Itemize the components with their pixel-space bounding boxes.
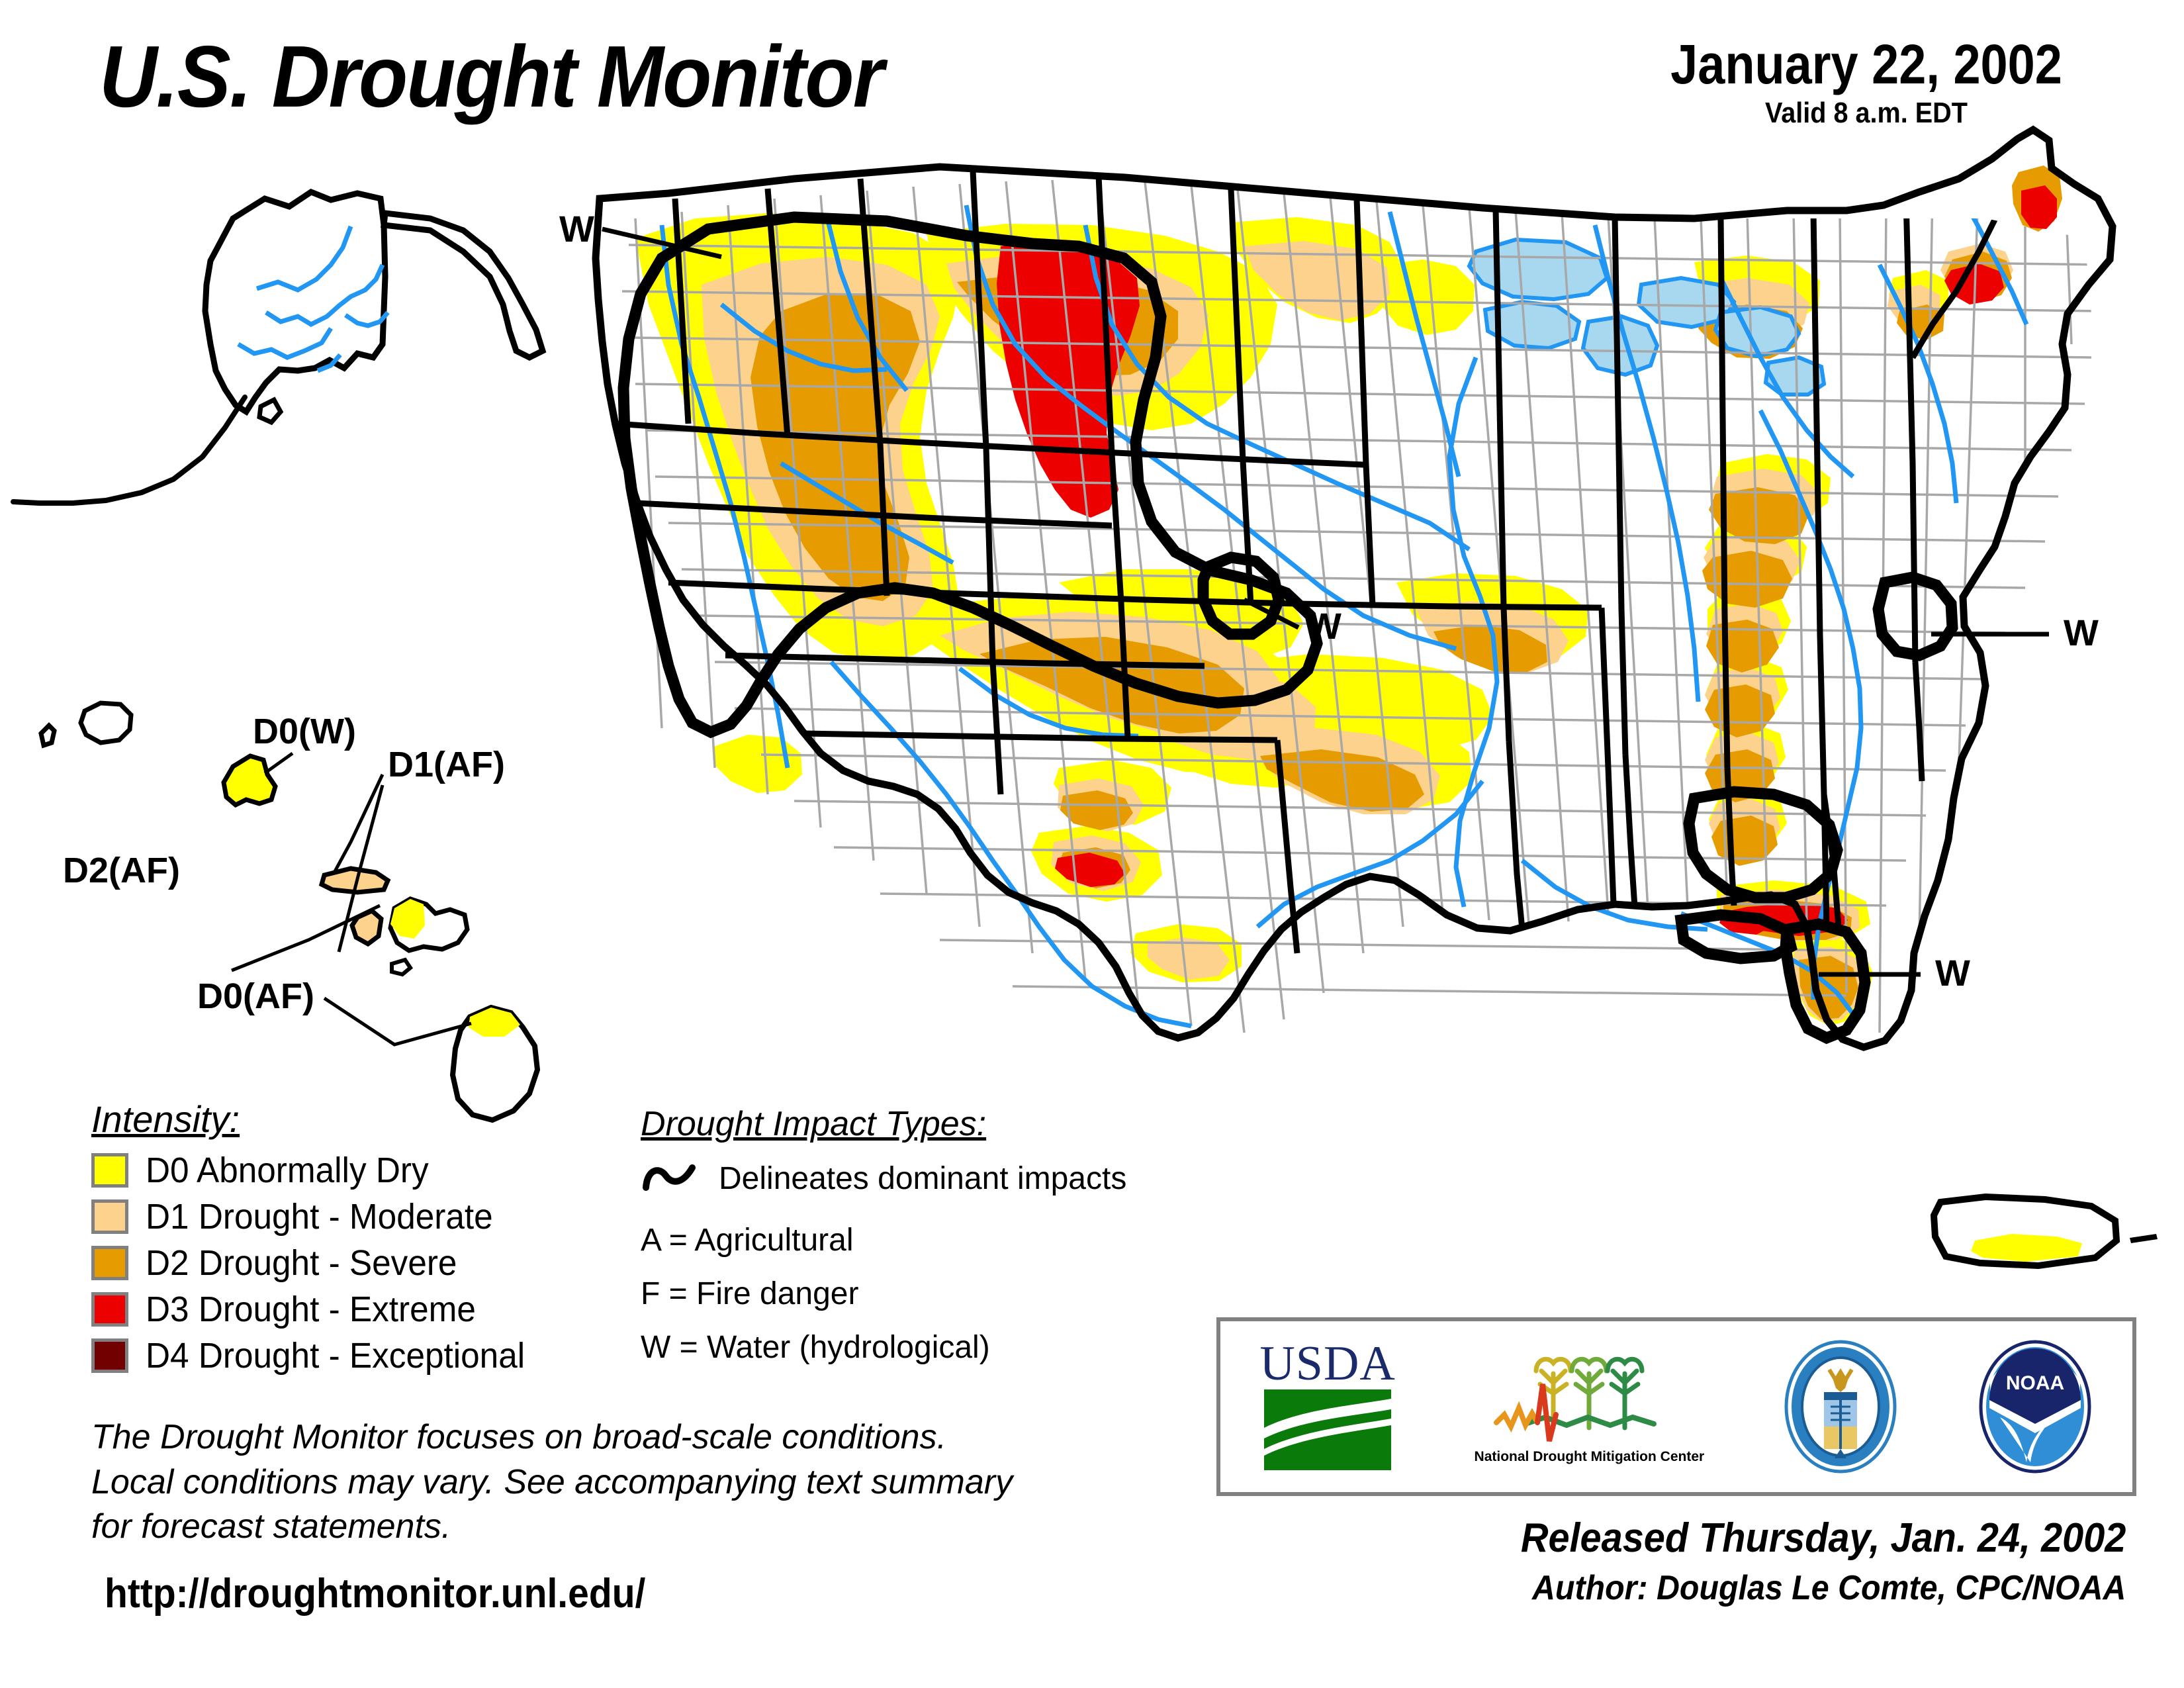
squiggle-icon: [641, 1157, 702, 1199]
release-date: Released Thursday, Jan. 24, 2002: [1520, 1515, 2126, 1562]
department-of-commerce-seal-icon: [1783, 1339, 1899, 1475]
hawaii-label-d1af: D1(AF): [388, 747, 505, 782]
hawaii-oahu: [224, 756, 275, 805]
legend-swatch-d0: [91, 1153, 128, 1188]
noaa-wordmark: NOAA: [2005, 1372, 2064, 1394]
doc-seal-logo: [1783, 1339, 1899, 1475]
legend-label-d4: D4 Drought - Exceptional: [146, 1335, 525, 1376]
legend-row-d4: D4 Drought - Exceptional: [91, 1334, 545, 1378]
drought-impact-types: Drought Impact Types: Delineates dominan…: [641, 1104, 1126, 1383]
disclaimer-line-2: Local conditions may vary. See accompany…: [91, 1460, 1013, 1505]
w-label-pacific-northwest: W: [559, 211, 594, 248]
puerto-rico-inset: [1934, 1197, 2158, 1266]
alaska-panhandle: [384, 213, 543, 357]
release-author: Author: Douglas Le Comte, CPC/NOAA: [1520, 1568, 2126, 1608]
legend-row-d3: D3 Drought - Extreme: [91, 1288, 545, 1331]
website-url[interactable]: http://droughtmonitor.unl.edu/: [105, 1570, 645, 1617]
w-label-florida: W: [1935, 955, 1970, 992]
hawaii-label-d0af: D0(AF): [197, 978, 314, 1014]
ndmc-logo: National Drought Mitigation Center: [1475, 1348, 1705, 1465]
legend-row-d1: D1 Drought - Moderate: [91, 1195, 545, 1239]
conus: [596, 130, 2113, 1047]
usda-logo: USDA: [1259, 1340, 1395, 1473]
ndmc-trees-icon: [1490, 1348, 1688, 1448]
alaska-inset: [13, 192, 543, 503]
legend-row-d0: D0 Abnormally Dry: [91, 1149, 545, 1192]
alaska-outline: [205, 192, 385, 412]
hawaii-niihau: [41, 726, 54, 745]
impact-key-agricultural: A = Agricultural: [641, 1222, 1126, 1258]
intensity-legend-title: Intensity:: [91, 1098, 545, 1141]
w-label-mid-atlantic: W: [2064, 614, 2099, 651]
disclaimer-line-1: The Drought Monitor focuses on broad-sca…: [91, 1415, 1013, 1460]
intensity-legend: Intensity: D0 Abnormally Dry D1 Drought …: [91, 1098, 545, 1380]
noaa-seal-logo: NOAA: [1978, 1339, 2093, 1475]
ndmc-caption: National Drought Mitigation Center: [1475, 1449, 1705, 1465]
usda-wordmark: USDA: [1259, 1340, 1395, 1387]
w-label-nebraska: W: [1306, 608, 1342, 645]
impact-key-fire: F = Fire danger: [641, 1276, 1126, 1312]
disclaimer-text: The Drought Monitor focuses on broad-sca…: [91, 1415, 1013, 1550]
partner-logo-box: USDA: [1216, 1317, 2136, 1496]
legend-swatch-d3: [91, 1292, 128, 1327]
impact-types-title: Drought Impact Types:: [641, 1104, 1126, 1144]
legend-swatch-d4: [91, 1338, 128, 1373]
hawaii-label-d0w: D0(W): [253, 714, 356, 749]
impact-squiggle-label: Delineates dominant impacts: [719, 1160, 1126, 1197]
hawaii-kahoolawe: [392, 960, 410, 974]
alaska-aleutians: [13, 397, 245, 503]
legend-label-d0: D0 Abnormally Dry: [146, 1150, 429, 1191]
impact-squiggle-row: Delineates dominant impacts: [641, 1157, 1126, 1199]
release-info: Released Thursday, Jan. 24, 2002 Author:…: [1475, 1515, 2126, 1608]
legend-row-d2: D2 Drought - Severe: [91, 1241, 545, 1285]
disclaimer-line-3: for forecast statements.: [91, 1505, 1013, 1550]
alaska-kodiak: [259, 400, 281, 422]
legend-label-d3: D3 Drought - Extreme: [146, 1289, 476, 1330]
legend-swatch-d2: [91, 1246, 128, 1280]
hawaii-label-d2af: D2(AF): [63, 853, 180, 888]
hawaii-kauai: [81, 703, 131, 743]
legend-label-d2: D2 Drought - Severe: [146, 1243, 457, 1284]
impact-key-water: W = Water (hydrological): [641, 1329, 1126, 1366]
usda-fields-icon: [1261, 1387, 1394, 1473]
legend-label-d1: D1 Drought - Moderate: [146, 1196, 493, 1237]
puerto-rico-vieques: [2130, 1234, 2158, 1243]
noaa-seal-icon: NOAA: [1978, 1339, 2093, 1475]
legend-swatch-d1: [91, 1199, 128, 1234]
